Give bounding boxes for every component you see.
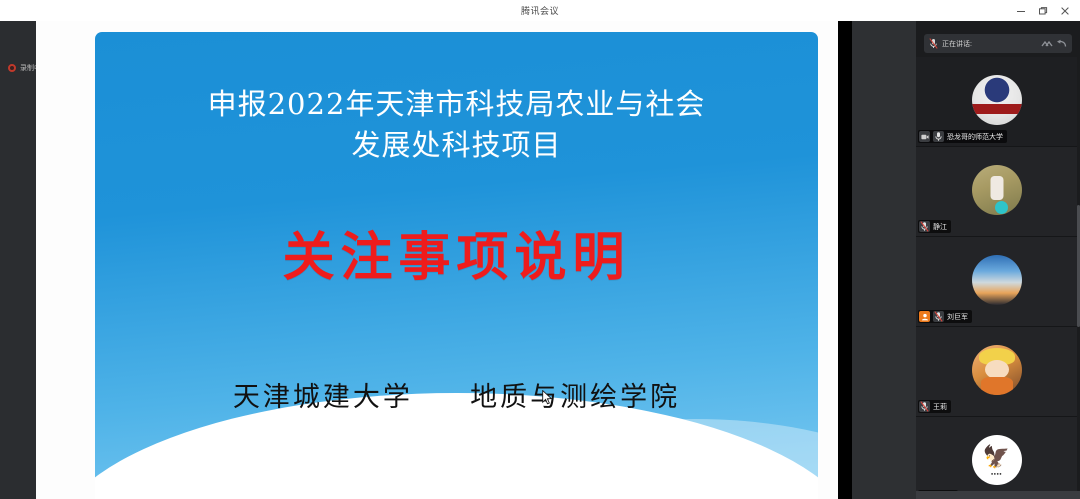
university-crest-icon [972, 75, 1022, 125]
avatar-figure [990, 176, 1003, 200]
chevron-up-icon[interactable] [1041, 39, 1053, 49]
sidebar-nav-arrows [1041, 39, 1067, 49]
slide-organization: 天津城建大学 地质与测绘学院 [95, 375, 818, 414]
avatar [972, 255, 1022, 305]
slide-title: 申报2022年天津市科技局农业与社会 发展处科技项目 [95, 84, 818, 166]
avatar [972, 165, 1022, 215]
participant-tile[interactable]: 🦅 ●●●● 王秀计 [916, 417, 1077, 499]
slide-org-university: 天津城建大学 [233, 382, 413, 413]
participant-tile[interactable]: 刘巨军 [916, 237, 1077, 327]
participant-namebar: 刘巨军 [918, 310, 972, 323]
participant-tile[interactable]: 王莉 [916, 327, 1077, 417]
restore-icon[interactable] [1032, 0, 1054, 21]
microphone-muted-icon [919, 401, 930, 412]
slide-presenter: 柴寿喜 讲解 [95, 456, 818, 491]
record-dot-icon [8, 64, 16, 72]
participant-name: 静江 [933, 222, 947, 232]
participant-namebar: 恐龙哥的师范大学 [918, 130, 1007, 143]
close-icon[interactable] [1054, 0, 1076, 21]
participant-name: 恐龙哥的师范大学 [947, 132, 1003, 142]
participant-tile-list: 恐龙哥的师范大学 [916, 57, 1080, 499]
participant-namebar: 王莉 [918, 400, 951, 413]
active-speaker-bar: 正在讲话: [924, 34, 1072, 53]
microphone-icon [933, 131, 944, 142]
participant-tile[interactable]: 静江 [916, 147, 1077, 237]
participant-sidebar: 正在讲话: [916, 21, 1080, 499]
avatar-ball [995, 201, 1008, 214]
participant-name: 刘巨军 [947, 312, 968, 322]
slide-title-line-1: 申报2022年天津市科技局农业与社会 [119, 84, 794, 125]
microphone-muted-icon [933, 311, 944, 322]
mouse-cursor-icon [542, 390, 553, 405]
participant-namebar: 静江 [918, 220, 951, 233]
title-bar: 腾讯会议 [0, 0, 1080, 21]
avatar [972, 345, 1022, 395]
window-title: 腾讯会议 [521, 4, 559, 17]
slide-headline: 关注事项说明 [95, 215, 818, 290]
left-rail: 录制中 [0, 21, 36, 499]
active-speaker-label: 正在讲话: [942, 39, 1037, 49]
slide-title-line-2: 发展处科技项目 [119, 125, 794, 166]
avatar: 🦅 ●●●● [972, 435, 1022, 485]
avatar [972, 75, 1022, 125]
camera-icon [919, 131, 930, 142]
host-icon [919, 311, 930, 322]
microphone-icon [929, 38, 938, 49]
minimize-icon[interactable] [1010, 0, 1032, 21]
slide-content: 申报2022年天津市科技局农业与社会 发展处科技项目 关注事项说明 天津城建大学… [95, 32, 818, 499]
shared-document-canvas: 申报2022年天津市科技局农业与社会 发展处科技项目 关注事项说明 天津城建大学… [36, 21, 838, 499]
participant-tile[interactable]: 恐龙哥的师范大学 [916, 57, 1077, 147]
participant-name: 王莉 [933, 402, 947, 412]
presentation-slide: 申报2022年天津市科技局农业与社会 发展处科技项目 关注事项说明 天津城建大学… [95, 32, 818, 499]
shared-screen-stage[interactable]: 申报2022年天津市科技局农业与社会 发展处科技项目 关注事项说明 天津城建大学… [36, 21, 888, 499]
eagle-logo-icon: 🦅 [983, 446, 1010, 468]
share-side-gutter [852, 21, 916, 499]
meeting-window: 腾讯会议 录制中 [0, 0, 1080, 499]
sidebar-bottom-strip [916, 491, 1080, 499]
window-controls [1010, 0, 1076, 21]
eagle-logo-text: ●●●● [972, 471, 1022, 476]
slide-org-college: 地质与测绘学院 [470, 382, 680, 413]
avatar-body [981, 377, 1013, 395]
microphone-muted-icon [919, 221, 930, 232]
collapse-arrow-icon[interactable] [1056, 39, 1067, 49]
